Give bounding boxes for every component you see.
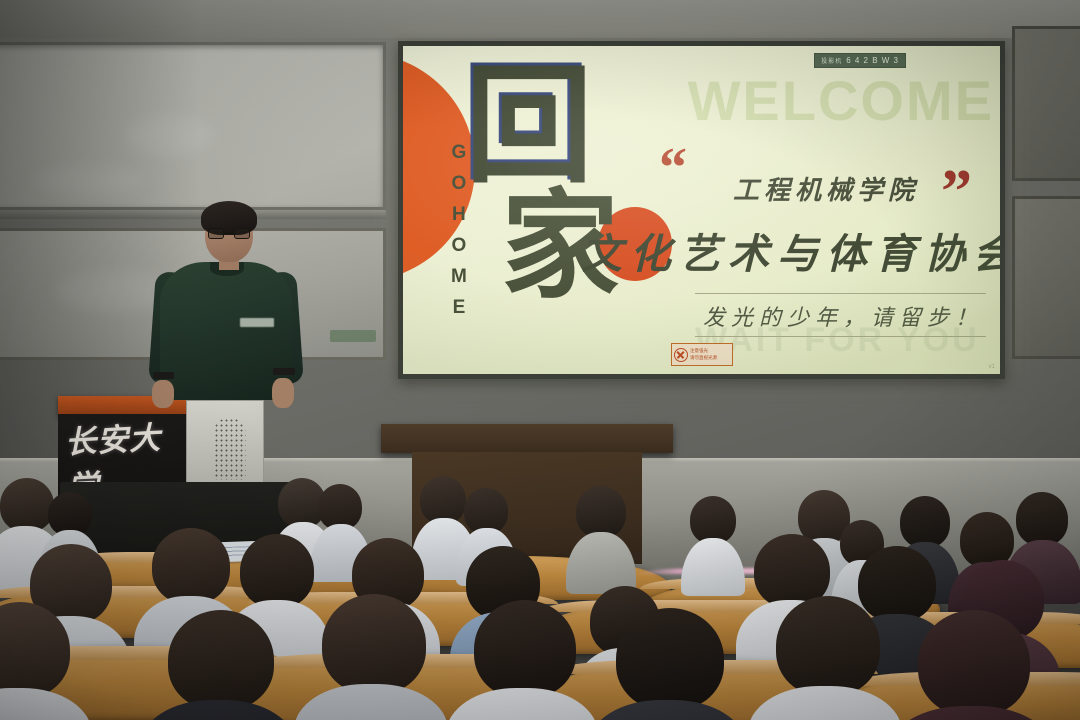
presenter-wristband [153, 372, 174, 379]
presenter-shirt-logo [240, 318, 274, 327]
welcome-watermark: WELCOME [688, 68, 994, 133]
lecture-hall-scene: WELCOME 回 家 G O H O M E “ ” 工程机械学院 文化艺术与… [0, 0, 1080, 720]
glasses-icon [208, 228, 250, 239]
projector-label-code: 6 4 2 B W 3 [846, 56, 899, 65]
projection-screen-frame: WELCOME 回 家 G O H O M E “ ” 工程机械学院 文化艺术与… [398, 41, 1005, 379]
projector-label-prefix: 投影机 [821, 56, 842, 65]
presenter-wristwatch [273, 368, 295, 375]
vertical-letter-e: E [453, 297, 466, 319]
slide-divider-bottom [695, 336, 986, 337]
slide-big-character-hui: 回 [465, 70, 593, 185]
presenter-right-hand [272, 378, 294, 408]
wall-panel-lower [1012, 196, 1080, 359]
screen-corner-mark: v1 [989, 364, 995, 370]
speaker-grill-icon [214, 418, 246, 480]
slide-divider-top [695, 293, 986, 294]
marker-pen[interactable] [330, 330, 376, 342]
projection-screen[interactable]: WELCOME 回 家 G O H O M E “ ” 工程机械学院 文化艺术与… [403, 46, 1000, 374]
podium-top [381, 424, 673, 453]
wall-panel-upper [1012, 26, 1080, 181]
projector-device-label: 投影机 6 4 2 B W 3 [814, 53, 906, 68]
warning-sticker: 注意强光 请勿直视光源 [671, 343, 733, 366]
vertical-letter-o2: O [452, 235, 467, 257]
quote-open-mark: “ [659, 152, 687, 186]
vertical-letter-g: G [452, 142, 467, 164]
warning-line-2: 请勿直视光源 [690, 355, 717, 361]
warning-sticker-text: 注意强光 请勿直视光源 [690, 348, 717, 360]
slide-vertical-letters: G O H O M E [451, 142, 467, 319]
vertical-letter-h: H [452, 204, 466, 226]
slide-main-title: 文化艺术与体育协会 [581, 220, 1000, 280]
quote-close-mark: ” [941, 174, 972, 211]
no-look-icon [674, 348, 688, 362]
vertical-letter-o1: O [452, 173, 467, 195]
slide-subtitle: 发光的少年，请留步！ [703, 300, 983, 332]
vertical-letter-m: M [451, 266, 467, 288]
presenter-left-hand [152, 380, 174, 408]
slide-college-name: 工程机械学院 [733, 170, 919, 207]
presenter-shirt [160, 262, 292, 400]
